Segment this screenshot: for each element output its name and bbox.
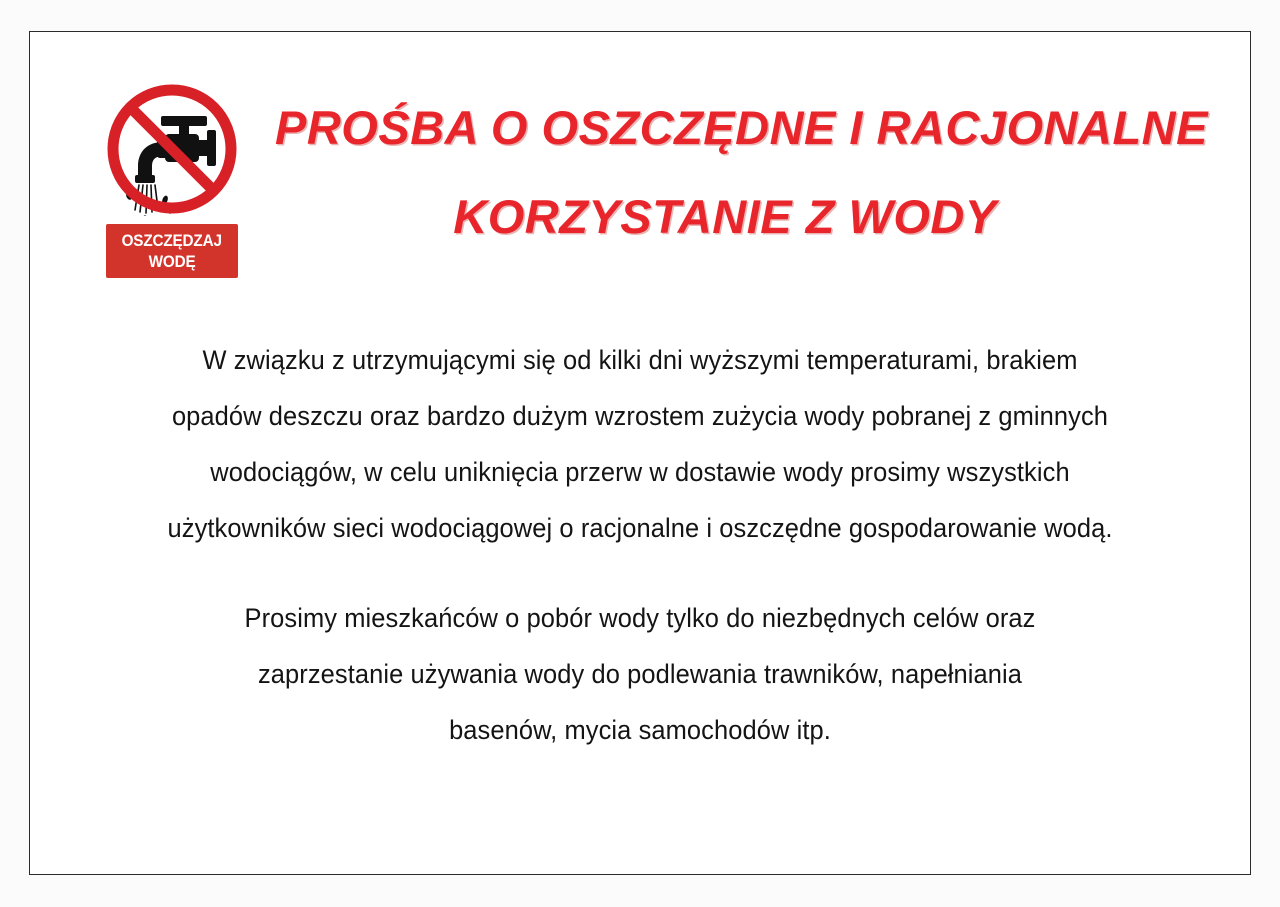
body-paragraph-1: W związku z utrzymującymi się od kilki d… — [54, 332, 1225, 556]
title-line-2: KORZYSTANIE Z WODY — [275, 193, 1175, 240]
body-paragraph-2: Prosimy mieszkańców o pobór wody tylko d… — [54, 590, 1225, 758]
announcement-body: W związku z utrzymującymi się od kilki d… — [30, 332, 1250, 758]
header-band: OSZCZĘDZAJ WODĘ PROŚBA O OSZCZĘDNE I RAC… — [30, 32, 1250, 298]
no-water-waste-prohibition-sign — [105, 82, 239, 216]
body-line: opadów deszczu oraz bardzo dużym wzroste… — [54, 388, 1225, 444]
body-line: Prosimy mieszkańców o pobór wody tylko d… — [54, 590, 1225, 646]
body-line: użytkowników sieci wodociągowej o racjon… — [54, 500, 1225, 556]
sign-banner: OSZCZĘDZAJ WODĘ — [106, 224, 238, 278]
body-line: zaprzestanie używania wody do podlewania… — [54, 646, 1225, 702]
sign-banner-line1: OSZCZĘDZAJ — [122, 232, 222, 250]
announcement-page: OSZCZĘDZAJ WODĘ PROŚBA O OSZCZĘDNE I RAC… — [29, 31, 1251, 875]
title-line-1: PROŚBA O OSZCZĘDNE I RACJONALNE — [275, 104, 1175, 151]
page-title: PROŚBA O OSZCZĘDNE I RACJONALNE KORZYSTA… — [275, 104, 1175, 240]
body-line: basenów, mycia samochodów itp. — [54, 702, 1225, 758]
body-line: wodociągów, w celu uniknięcia przerw w d… — [54, 444, 1225, 500]
water-saving-sign: OSZCZĘDZAJ WODĘ — [103, 82, 241, 278]
sign-banner-line2: WODĘ — [149, 253, 196, 271]
body-line: W związku z utrzymującymi się od kilki d… — [54, 332, 1225, 388]
